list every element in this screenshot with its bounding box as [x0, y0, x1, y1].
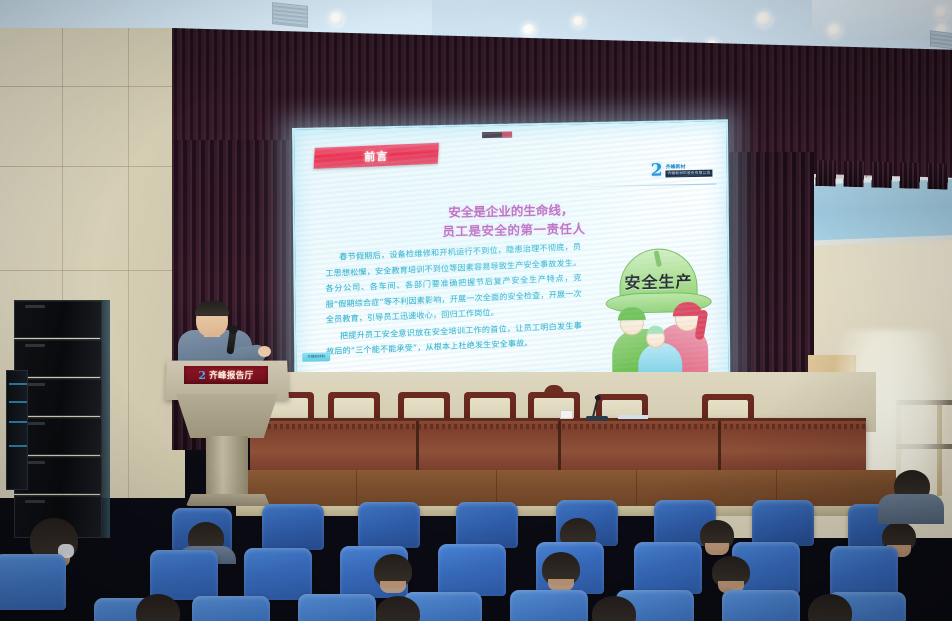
audience-seat[interactable]	[722, 590, 800, 621]
audience-member	[374, 554, 412, 588]
audience-seat[interactable]	[0, 554, 66, 610]
slide-decor-tab	[482, 132, 512, 139]
ceiling-spotlight	[757, 12, 771, 26]
audience-member	[542, 552, 580, 586]
audience-member	[700, 520, 734, 550]
audience-seat[interactable]	[358, 502, 420, 548]
presenter-hand	[258, 346, 271, 357]
audience-seat[interactable]	[192, 596, 270, 621]
company-fullname-bar: 齐峰新材料股份有限公司	[666, 170, 713, 178]
helmet-slogan-text: 安全生产	[605, 268, 711, 294]
audience-shoulders	[878, 494, 944, 524]
slide-divider-line	[567, 183, 717, 187]
ceiling-spotlight	[935, 6, 948, 19]
presenter-hair	[195, 301, 229, 316]
slide-footer-tab: 齐峰新材料	[302, 352, 330, 362]
audience-seat[interactable]	[456, 502, 518, 548]
audience-seat[interactable]	[830, 546, 898, 598]
company-logo-mark: 2	[651, 163, 663, 180]
audience-seat[interactable]	[752, 500, 814, 546]
audience-member	[712, 556, 750, 588]
ceiling-spotlight	[573, 16, 584, 27]
stage-conference-table	[250, 418, 866, 476]
table-document	[618, 415, 648, 419]
audience-seat[interactable]	[298, 594, 376, 621]
audience-seat[interactable]	[510, 590, 588, 621]
ceiling-spotlight	[330, 12, 343, 25]
podium-nameplate: 2 齐峰报告厅	[184, 366, 268, 384]
audience-seat[interactable]	[262, 504, 324, 550]
podium-column	[206, 436, 248, 498]
slide-body-text: 春节假期后，设备检维修和开机运行不到位，隐患治理不彻底，员工思想松懈，安全教育培…	[325, 239, 582, 361]
family-illustration	[608, 302, 713, 376]
podium-logo-mark: 2	[198, 370, 206, 381]
safety-production-graphic: 安全生产	[597, 245, 720, 375]
ceiling-air-vent	[930, 30, 952, 49]
speaker-cabinet	[14, 300, 102, 338]
slide-company-logo: 2 齐峰新材 齐峰新材料股份有限公司	[651, 162, 713, 180]
audience-seat[interactable]	[438, 544, 506, 596]
ceiling-air-vent	[272, 2, 308, 28]
audience-seat[interactable]	[150, 550, 218, 600]
presentation-slide: 前言 2 齐峰新材 齐峰新材料股份有限公司 安全是企业的生命线， 员工是安全的第…	[292, 119, 730, 390]
audience-seat[interactable]	[244, 548, 312, 600]
microphone-base	[586, 416, 608, 421]
ceiling-spotlight	[828, 24, 841, 37]
podium-body	[176, 394, 278, 438]
audio-rack	[6, 370, 28, 490]
slide-title-text: 前言	[364, 147, 388, 164]
slide-paragraph: 春节假期后，设备检维修和开机运行不到位，隐患治理不彻底，员工思想松懈，安全教育培…	[325, 239, 582, 328]
slide-headline: 安全是企业的生命线， 员工是安全的第一责任人	[295, 197, 727, 244]
podium-venue-name: 齐峰报告厅	[209, 369, 254, 381]
table-paper	[560, 410, 573, 419]
auditorium-photo-scene: 前言 2 齐峰新材 齐峰新材料股份有限公司 安全是企业的生命线， 员工是安全的第…	[0, 0, 952, 621]
ceiling-spotlight	[523, 24, 535, 36]
projection-screen[interactable]: 前言 2 齐峰新材 齐峰新材料股份有限公司 安全是企业的生命线， 员工是安全的第…	[292, 119, 730, 390]
slide-title-banner: 前言	[314, 143, 439, 169]
audience-seating	[0, 498, 952, 621]
audience-seat[interactable]	[634, 542, 702, 594]
presenter-glasses	[199, 315, 225, 320]
